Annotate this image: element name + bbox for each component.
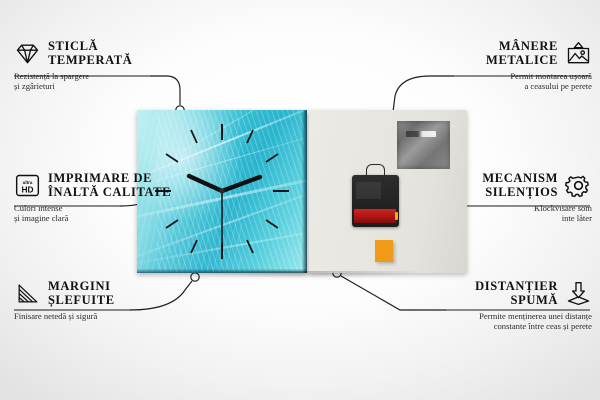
press-down-pad-icon	[565, 281, 592, 306]
feature-metal-hooks: MÂNERE METALICE Permit montarea ușoară a…	[406, 40, 592, 92]
feature-title: MÂNERE METALICE	[486, 40, 558, 67]
feature-header: MECANISM SILENȚIOS	[406, 172, 592, 199]
infographic-canvas: STICLĂ TEMPERATĂ Rezistență la spargere …	[0, 0, 600, 400]
feature-header: DISTANȚIER SPUMĂ	[406, 280, 592, 307]
battery	[354, 209, 396, 223]
feature-title: MECANISM SILENȚIOS	[482, 172, 558, 199]
feature-polished-edges: MARGINI ȘLEFUITE Finisare netedă și sigu…	[14, 280, 190, 321]
feature-subtitle: Finisare netedă și sigură	[14, 311, 190, 321]
feature-subtitle: Culori intense și imagine clară	[14, 203, 190, 224]
clock-movement	[352, 175, 399, 227]
foam-spacer-pad	[375, 240, 392, 261]
feature-foam-spacer: DISTANȚIER SPUMĂ Permite menținerea unei…	[406, 280, 592, 332]
feature-title: STICLĂ TEMPERATĂ	[48, 40, 132, 67]
feature-subtitle: Klockvisare som inte låter	[406, 203, 592, 224]
glass-edge	[302, 110, 307, 273]
svg-text:HD: HD	[21, 185, 33, 195]
feature-subtitle: Permite menținerea unei distanțe constan…	[406, 311, 592, 332]
feature-subtitle: Rezistență la spargere și zgârieturi	[14, 71, 190, 92]
feature-header: MÂNERE METALICE	[406, 40, 592, 67]
feature-title: MARGINI ȘLEFUITE	[48, 280, 115, 307]
diamond-icon	[14, 41, 41, 66]
gear-icon	[565, 173, 592, 198]
feature-header: ultra HD IMPRIMARE DE ÎNALTĂ CALITATE	[14, 172, 190, 199]
feature-silent-mechanism: MECANISM SILENȚIOS Klockvisare som inte …	[406, 172, 592, 224]
hanging-frame-icon	[565, 41, 592, 66]
feature-header: STICLĂ TEMPERATĂ	[14, 40, 190, 67]
hanger-slot	[406, 131, 436, 137]
feature-tempered-glass: STICLĂ TEMPERATĂ Rezistență la spargere …	[14, 40, 190, 92]
ultra-hd-badge-icon: ultra HD	[14, 173, 41, 198]
metal-hanger-plate	[397, 121, 449, 168]
feature-title: IMPRIMARE DE ÎNALTĂ CALITATE	[48, 172, 171, 199]
feature-subtitle: Permit montarea ușoară a ceasului pe per…	[406, 71, 592, 92]
polished-edge-icon	[14, 281, 41, 306]
feature-header: MARGINI ȘLEFUITE	[14, 280, 190, 307]
feature-title: DISTANȚIER SPUMĂ	[475, 280, 558, 307]
feature-hd-print: ultra HD IMPRIMARE DE ÎNALTĂ CALITATE Cu…	[14, 172, 190, 224]
hanger-bail	[366, 164, 385, 178]
movement-plate	[356, 182, 381, 199]
